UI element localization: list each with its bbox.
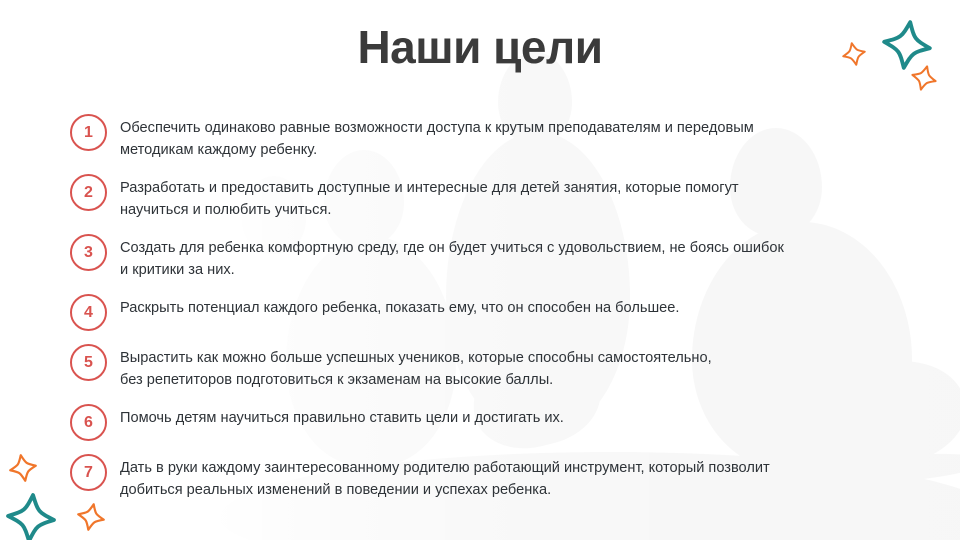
goal-text-line: Создать для ребенка комфортную среду, гд… xyxy=(120,238,784,260)
goal-item: 3Создать для ребенка комфортную среду, г… xyxy=(70,238,900,281)
goal-number-badge: 1 xyxy=(70,114,107,151)
goal-text-line: Раскрыть потенциал каждого ребенка, пока… xyxy=(120,298,679,320)
goal-number-badge: 3 xyxy=(70,234,107,271)
goal-text: Создать для ребенка комфортную среду, гд… xyxy=(120,238,784,281)
goal-text-line: Дать в руки каждому заинтересованному ро… xyxy=(120,458,770,480)
goal-number-badge: 6 xyxy=(70,404,107,441)
goal-number-badge: 5 xyxy=(70,344,107,381)
goal-text-line: Разработать и предоставить доступные и и… xyxy=(120,178,739,200)
goal-text-line: добиться реальных изменений в поведении … xyxy=(120,480,770,502)
goal-number-badge: 2 xyxy=(70,174,107,211)
goal-item: 4Раскрыть потенциал каждого ребенка, пок… xyxy=(70,298,900,331)
goal-text-line: и критики за них. xyxy=(120,260,784,282)
goal-item: 2Разработать и предоставить доступные и … xyxy=(70,178,900,221)
star-teal-bottom-left-large xyxy=(6,493,56,540)
goal-text: Помочь детям научиться правильно ставить… xyxy=(120,408,564,430)
goal-item: 5Вырастить как можно больше успешных уче… xyxy=(70,348,900,391)
goal-number-badge: 7 xyxy=(70,454,107,491)
goal-text: Обеспечить одинаково равные возможности … xyxy=(120,118,754,161)
slide-root: Наши цели 1Обеспечить одинаково равные в… xyxy=(0,0,960,540)
goal-text-line: Обеспечить одинаково равные возможности … xyxy=(120,118,754,140)
goal-text-line: без репетиторов подготовиться к экзамена… xyxy=(120,370,712,392)
goal-item: 6Помочь детям научиться правильно ставит… xyxy=(70,408,900,441)
star-orange-bottom-left-upper xyxy=(8,453,38,483)
goal-number-badge: 4 xyxy=(70,294,107,331)
goal-item: 7Дать в руки каждому заинтересованному р… xyxy=(70,458,900,501)
goal-text-line: научиться и полюбить учиться. xyxy=(120,200,739,222)
goal-text: Дать в руки каждому заинтересованному ро… xyxy=(120,458,770,501)
goal-text: Раскрыть потенциал каждого ребенка, пока… xyxy=(120,298,679,320)
goal-text-line: методикам каждому ребенку. xyxy=(120,140,754,162)
goal-text: Вырастить как можно больше успешных учен… xyxy=(120,348,712,391)
goal-item: 1Обеспечить одинаково равные возможности… xyxy=(70,118,900,161)
goals-list: 1Обеспечить одинаково равные возможности… xyxy=(70,118,900,518)
goal-text-line: Вырастить как можно больше успешных учен… xyxy=(120,348,712,370)
page-title: Наши цели xyxy=(0,22,960,73)
goal-text-line: Помочь детям научиться правильно ставить… xyxy=(120,408,564,430)
goal-text: Разработать и предоставить доступные и и… xyxy=(120,178,739,221)
